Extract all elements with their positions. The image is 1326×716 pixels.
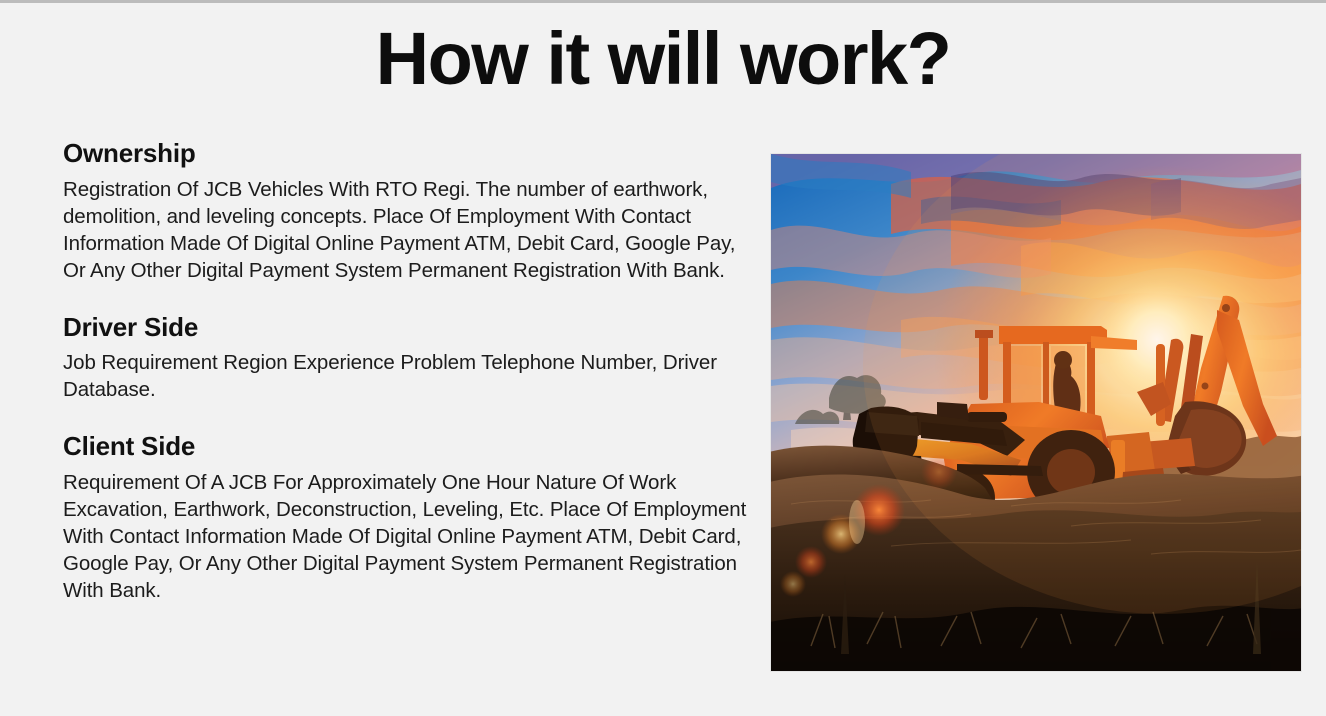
construction-sunset-photo: [771, 154, 1301, 671]
section-driver-side: Driver Side Job Requirement Region Exper…: [63, 311, 763, 404]
section-body-ownership: Registration Of JCB Vehicles With RTO Re…: [63, 176, 763, 284]
content-column: Ownership Registration Of JCB Vehicles W…: [63, 137, 763, 604]
section-heading-client-side: Client Side: [63, 430, 763, 463]
section-client-side: Client Side Requirement Of A JCB For App…: [63, 430, 763, 604]
section-body-client-side: Requirement Of A JCB For Approximately O…: [63, 469, 763, 604]
backhoe-loader-sunset-illustration: [771, 154, 1301, 671]
section-heading-driver-side: Driver Side: [63, 311, 763, 344]
section-ownership: Ownership Registration Of JCB Vehicles W…: [63, 137, 763, 284]
slide-canvas: How it will work? Ownership Registration…: [0, 3, 1326, 716]
section-heading-ownership: Ownership: [63, 137, 763, 170]
page-title: How it will work?: [0, 20, 1326, 98]
section-body-driver-side: Job Requirement Region Experience Proble…: [63, 349, 763, 403]
